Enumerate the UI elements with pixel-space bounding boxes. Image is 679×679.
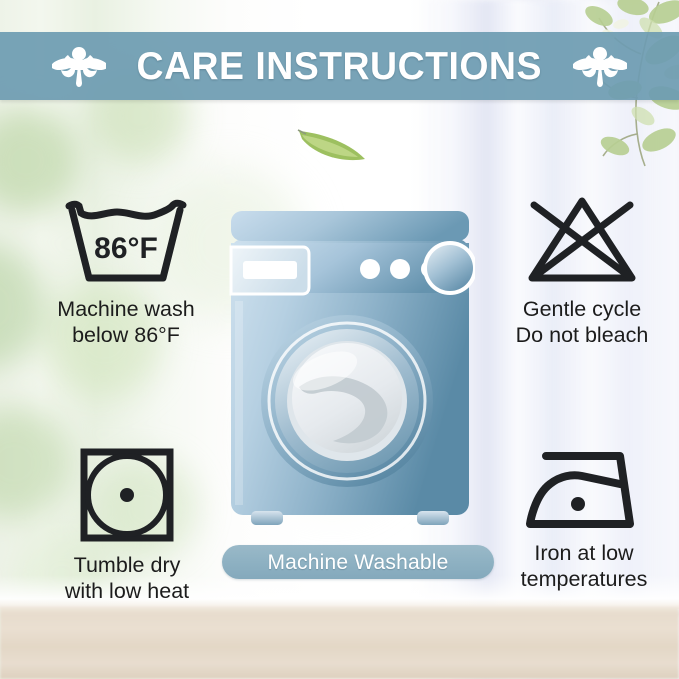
care-item-iron-low: Iron at low temperatures (488, 446, 679, 592)
triangle-crossed-out-icon (520, 192, 644, 288)
machine-knob[interactable] (427, 245, 473, 291)
iron-one-dot-icon (524, 446, 644, 532)
care-item-tumble-dry-low: Tumble dry with low heat (32, 446, 222, 604)
floating-leaf-icon (296, 122, 368, 164)
machine-indicator-1[interactable] (360, 259, 380, 279)
machine-washable-badge: Machine Washable (222, 545, 494, 579)
machine-drawer-handle (243, 261, 297, 279)
wash-temperature-value: 86°F (94, 232, 158, 265)
care-label-tumble-dry-low: Tumble dry with low heat (65, 552, 189, 604)
care-label-gentle-cycle-no-bleach: Gentle cycle Do not bleach (516, 296, 649, 348)
wash-tub-icon: 86°F (61, 196, 191, 288)
care-instructions-infographic: CARE INSTRUCTIONS 86°F Machine wash belo… (0, 0, 679, 679)
badge-label: Machine Washable (267, 552, 448, 573)
machine-indicator-2[interactable] (390, 259, 410, 279)
washing-machine-illustration (225, 205, 475, 535)
care-item-machine-wash: 86°F Machine wash below 86°F (28, 196, 224, 348)
header-banner: CARE INSTRUCTIONS (0, 32, 679, 100)
page-title: CARE INSTRUCTIONS (137, 47, 542, 86)
machine-foot-left (251, 511, 283, 525)
fleur-de-lis-icon-left (52, 42, 106, 90)
tumble-dry-square-circle-one-dot-icon (78, 446, 176, 544)
care-item-gentle-cycle-no-bleach: Gentle cycle Do not bleach (484, 192, 679, 348)
care-label-machine-wash: Machine wash below 86°F (57, 296, 194, 348)
machine-foot-right (417, 511, 449, 525)
care-label-iron-low: Iron at low temperatures (521, 540, 648, 592)
background-wooden-table (0, 607, 679, 679)
machine-top-lid (231, 211, 469, 241)
fleur-de-lis-icon-right (573, 42, 627, 90)
